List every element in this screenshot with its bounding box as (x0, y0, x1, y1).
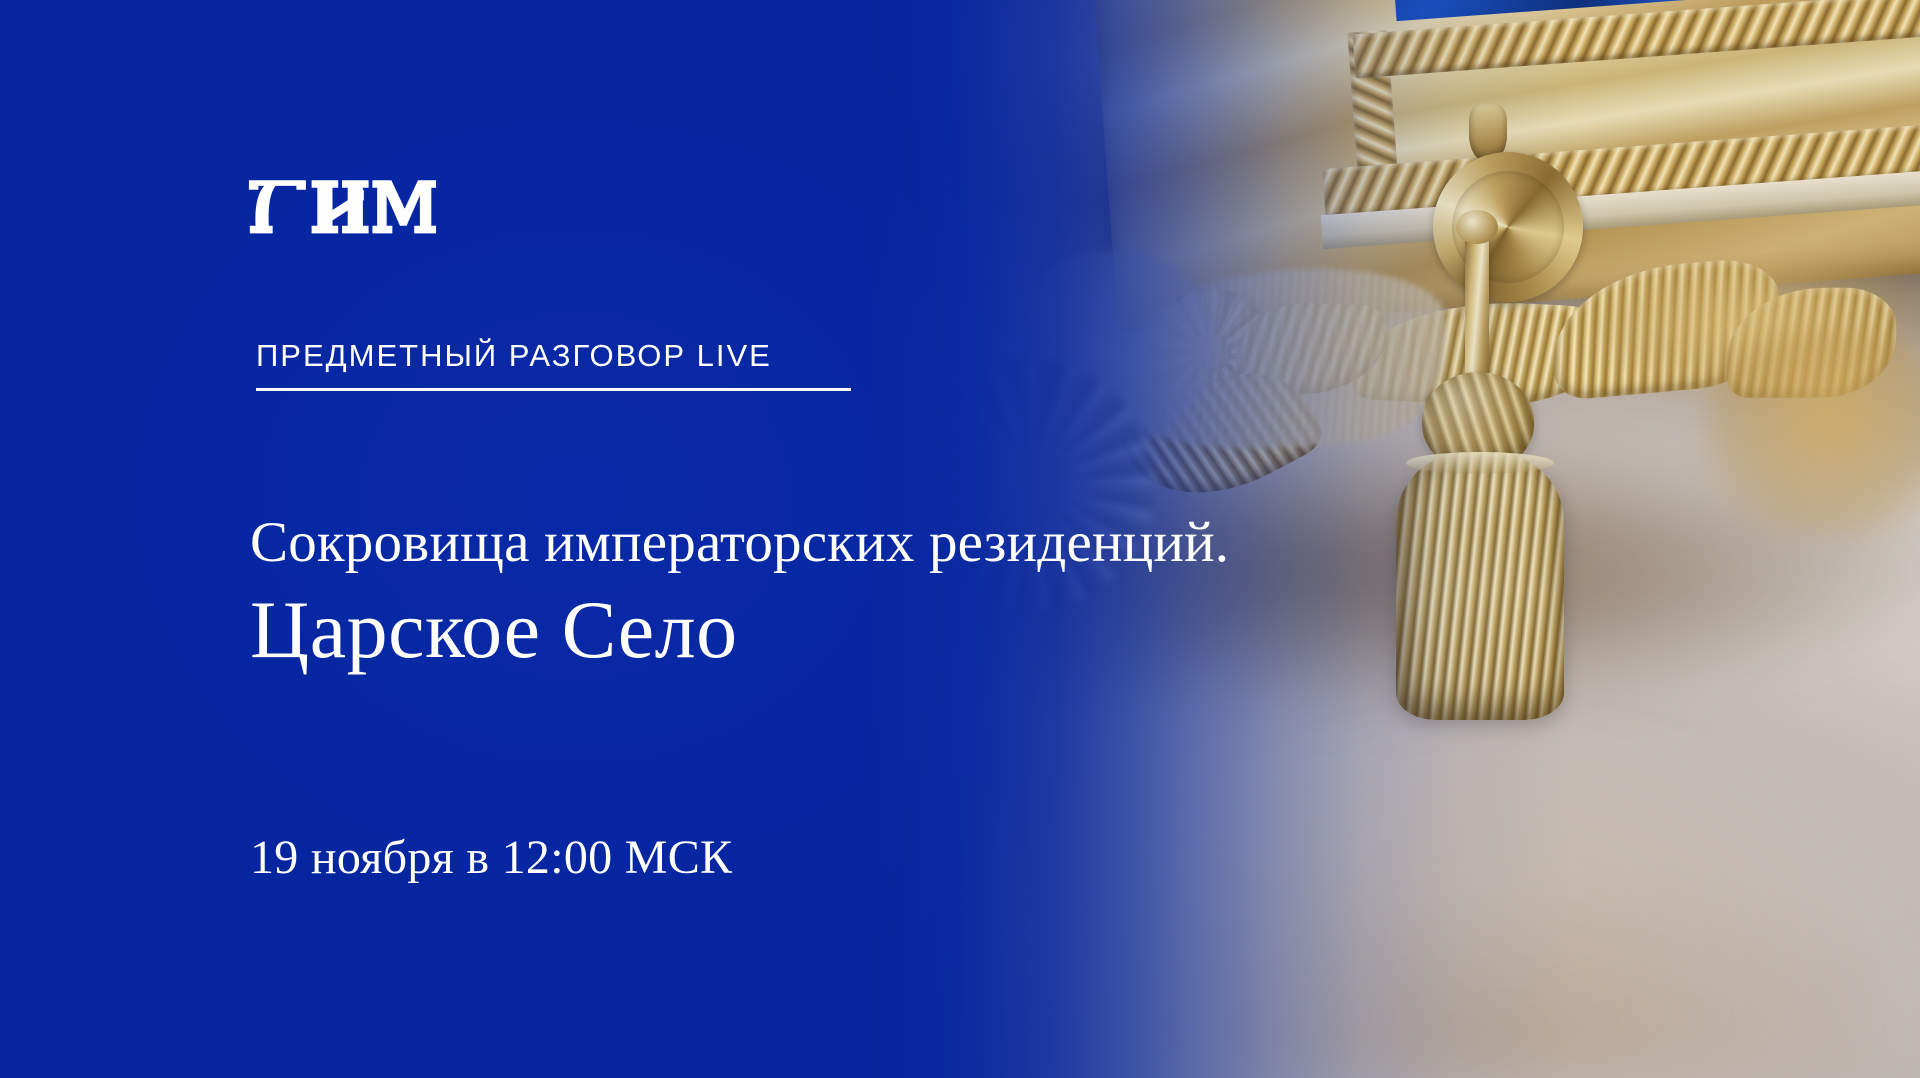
kicker-label: ПРЕДМЕТНЫЙ РАЗГОВОР LIVE (256, 340, 851, 371)
page-title: Сокровища императорских резиденций. Царс… (250, 513, 1229, 673)
kicker-underline (256, 388, 851, 391)
kicker-block: ПРЕДМЕТНЫЙ РАЗГОВОР LIVE (256, 340, 851, 391)
promo-poster: ПРЕДМЕТНЫЙ РАЗГОВОР LIVE Сокровища импер… (0, 0, 1920, 1078)
headline-line-1: Сокровища императорских резиденций. (250, 513, 1229, 573)
poster-content: ПРЕДМЕТНЫЙ РАЗГОВОР LIVE Сокровища импер… (0, 0, 1920, 1078)
gim-museum-logo-icon (247, 168, 437, 238)
event-datetime: 19 ноября в 12:00 МСК (250, 830, 732, 885)
headline-line-2: Царское Село (250, 587, 1229, 674)
